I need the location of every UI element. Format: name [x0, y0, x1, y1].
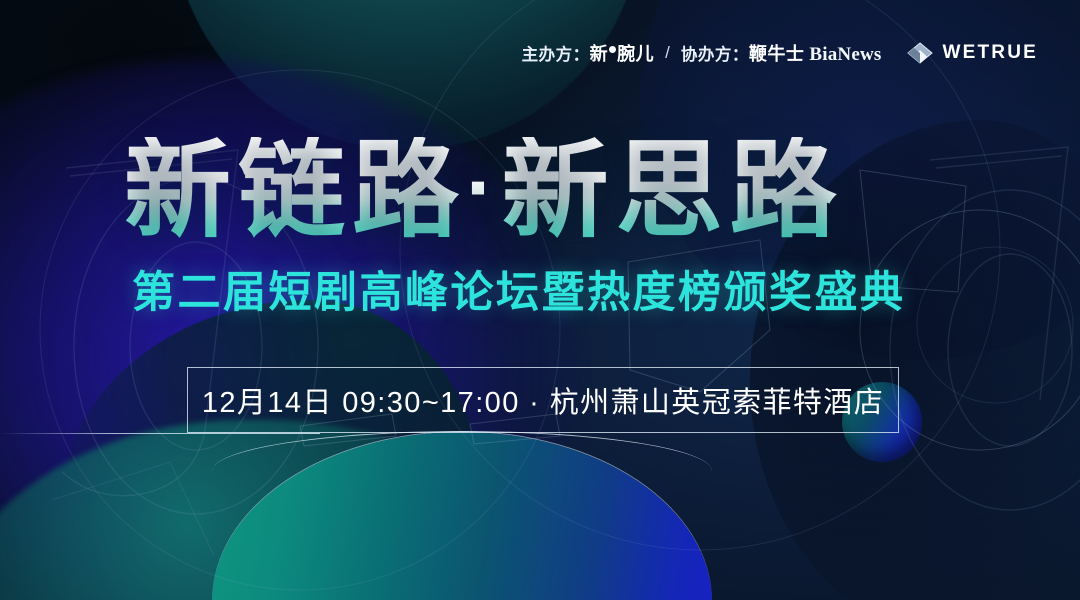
- sponsor-bar: 主办方： 新 腕儿 / 协办方： 鞭牛士 BiaNews: [522, 40, 1038, 66]
- title-divider: ·: [466, 140, 502, 236]
- event-info-text: 12月14日 09:30~17:00 · 杭州萧山英冠索菲特酒店: [202, 379, 884, 421]
- organizer-label: 主办方：: [522, 41, 590, 65]
- brand-dot-icon: [609, 46, 616, 53]
- co-organizer-group: 协办方： 鞭牛士 BiaNews: [681, 40, 882, 66]
- title-part-two: 新思路: [502, 130, 844, 250]
- poster-content: 主办方： 新 腕儿 / 协办方： 鞭牛士 BiaNews: [0, 0, 1080, 600]
- partner-logo-text: WETRUE: [942, 42, 1038, 64]
- title-part-one: 新链路: [124, 130, 466, 250]
- organizer-group: 主办方： 新 腕儿: [522, 40, 655, 66]
- page-subtitle: 第二届短剧高峰论坛暨热度榜颁奖盛典: [132, 272, 906, 315]
- event-info-box: 12月14日 09:30~17:00 · 杭州萧山英冠索菲特酒店: [187, 367, 899, 433]
- organizer-name: 新 腕儿: [590, 40, 655, 66]
- event-poster: 主办方： 新 腕儿 / 协办方： 鞭牛士 BiaNews: [0, 0, 1080, 600]
- organizer-name-suffix: 腕儿: [617, 40, 654, 66]
- co-organizer-name: 鞭牛士: [749, 40, 805, 66]
- page-title: 新链路·新思路: [124, 137, 844, 244]
- co-organizer-name-en: BiaNews: [809, 44, 881, 66]
- sponsor-separator: /: [665, 43, 670, 63]
- co-organizer-label: 协办方：: [681, 41, 749, 65]
- diamond-mountain-icon: [907, 41, 933, 65]
- organizer-name-prefix: 新: [590, 40, 609, 66]
- partner-logo: WETRUE: [907, 41, 1038, 65]
